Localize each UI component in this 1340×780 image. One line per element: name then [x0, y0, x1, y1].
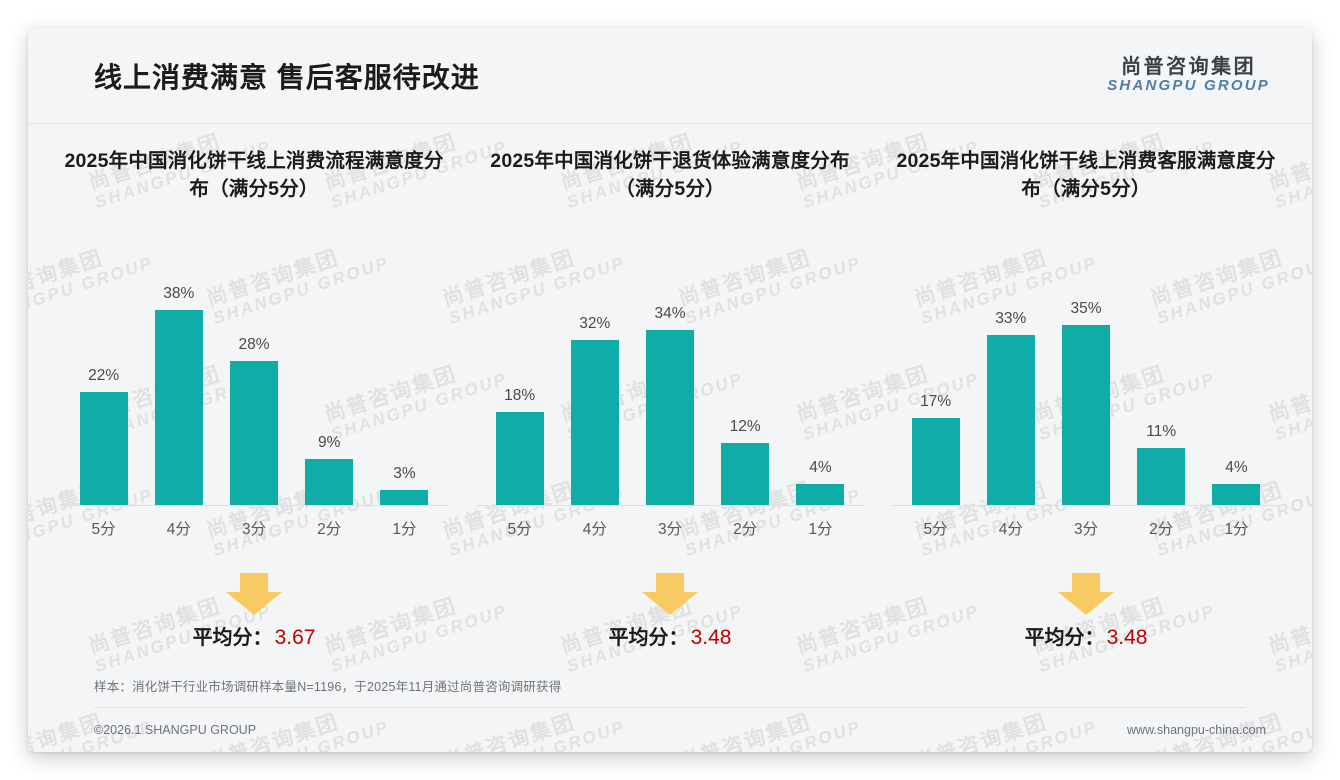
x-axis-labels: 5分4分3分2分1分: [60, 517, 448, 539]
average-score-text: 平均分：3.48: [609, 621, 732, 650]
x-axis-tick-label: 5分: [482, 517, 557, 539]
bar[interactable]: [1137, 448, 1185, 505]
x-axis-tick-label: 3分: [1048, 517, 1123, 539]
bar-group: 32%: [557, 256, 632, 505]
bar-chart: 22%38%28%9%3%: [60, 256, 448, 506]
bar[interactable]: [80, 392, 128, 505]
average-score-value: 3.48: [691, 626, 732, 649]
average-score-block: 平均分：3.48: [892, 573, 1280, 650]
copyright-text: ©2026.1 SHANGPU GROUP: [94, 723, 256, 737]
bar-group: 35%: [1048, 256, 1123, 505]
bar-group: 18%: [482, 256, 557, 505]
bar[interactable]: [305, 459, 353, 505]
bar-group: 11%: [1124, 256, 1199, 505]
page-title: 线上消费满意 售后客服待改进: [94, 56, 480, 96]
x-axis-tick-label: 5分: [898, 517, 973, 539]
bar-group: 12%: [708, 256, 783, 505]
x-axis-tick-label: 1分: [783, 517, 858, 539]
average-score-label: 平均分：: [1025, 627, 1105, 649]
x-axis-labels: 5分4分3分2分1分: [476, 517, 864, 539]
down-arrow-icon: [226, 573, 282, 615]
logo-english-text: SHANGPU GROUP: [1107, 78, 1270, 95]
x-axis-tick-label: 4分: [141, 517, 216, 539]
bar[interactable]: [987, 335, 1035, 505]
average-score-block: 平均分：3.67: [60, 573, 448, 650]
average-score-label: 平均分：: [609, 627, 689, 649]
bar[interactable]: [912, 418, 960, 505]
bar-value-label: 17%: [920, 393, 951, 411]
bar[interactable]: [571, 340, 619, 505]
bar-group: 9%: [292, 256, 367, 505]
x-axis-tick-label: 1分: [1199, 517, 1274, 539]
average-score-text: 平均分：3.67: [193, 621, 316, 650]
arrow-shaft: [656, 573, 684, 593]
chart-panel-1: 2025年中国消化饼干线上消费流程满意度分布（满分5分）22%38%28%9%3…: [46, 148, 462, 676]
x-axis-tick-label: 2分: [708, 517, 783, 539]
average-score-value: 3.67: [275, 626, 316, 649]
chart-title: 2025年中国消化饼干退货体验满意度分布（满分5分）: [476, 148, 864, 210]
down-arrow-icon: [1058, 573, 1114, 615]
slide-footer: ©2026.1 SHANGPU GROUP www.shangpu-china.…: [28, 708, 1312, 752]
bar[interactable]: [646, 330, 694, 505]
bar-group: 28%: [216, 256, 291, 505]
arrow-shaft: [240, 573, 268, 593]
bar-group: 33%: [973, 256, 1048, 505]
bar[interactable]: [1062, 325, 1110, 505]
x-axis-tick-label: 2分: [292, 517, 367, 539]
bar-group: 17%: [898, 256, 973, 505]
bar-chart: 17%33%35%11%4%: [892, 256, 1280, 506]
bar-value-label: 22%: [88, 367, 119, 385]
chart-panel-2: 2025年中国消化饼干退货体验满意度分布（满分5分）18%32%34%12%4%…: [462, 148, 878, 676]
bar-value-label: 35%: [1070, 300, 1101, 318]
x-axis-tick-label: 3分: [632, 517, 707, 539]
x-axis-tick-label: 5分: [66, 517, 141, 539]
chart-panel-3: 2025年中国消化饼干线上消费客服满意度分布（满分5分）17%33%35%11%…: [878, 148, 1294, 676]
brand-logo: 尚普咨询集团 SHANGPU GROUP: [1107, 56, 1270, 95]
slide-card: 尚普咨询集团SHANGPU GROUP尚普咨询集团SHANGPU GROUP尚普…: [28, 28, 1312, 752]
bar[interactable]: [796, 484, 844, 505]
bar-value-label: 9%: [318, 434, 340, 452]
bar-value-label: 3%: [393, 465, 415, 483]
bar-group: 38%: [141, 256, 216, 505]
chart-title: 2025年中国消化饼干线上消费客服满意度分布（满分5分）: [892, 148, 1280, 210]
bar-group: 34%: [632, 256, 707, 505]
logo-chinese-text: 尚普咨询集团: [1121, 56, 1256, 78]
average-score-label: 平均分：: [193, 627, 273, 649]
footnote-container: 样本：消化饼干行业市场调研样本量N=1196，于2025年11月通过尚普咨询调研…: [28, 676, 1312, 708]
bar[interactable]: [496, 412, 544, 505]
x-axis-tick-label: 3分: [216, 517, 291, 539]
bar-value-label: 28%: [238, 336, 269, 354]
bar[interactable]: [721, 443, 769, 505]
x-axis-tick-label: 4分: [973, 517, 1048, 539]
bar-value-label: 38%: [163, 285, 194, 303]
x-axis-tick-label: 1分: [367, 517, 442, 539]
arrow-head: [642, 592, 698, 615]
chart-title: 2025年中国消化饼干线上消费流程满意度分布（满分5分）: [60, 148, 448, 210]
x-axis-labels: 5分4分3分2分1分: [892, 517, 1280, 539]
bar-value-label: 18%: [504, 387, 535, 405]
bar-group: 4%: [1199, 256, 1274, 505]
bar[interactable]: [230, 361, 278, 505]
bar-chart: 18%32%34%12%4%: [476, 256, 864, 506]
bar-value-label: 32%: [579, 315, 610, 333]
average-score-value: 3.48: [1107, 626, 1148, 649]
bar-group: 3%: [367, 256, 442, 505]
bar[interactable]: [1212, 484, 1260, 505]
slide-header: 线上消费满意 售后客服待改进 尚普咨询集团 SHANGPU GROUP: [28, 28, 1312, 124]
website-link[interactable]: www.shangpu-china.com: [1127, 723, 1266, 737]
bar[interactable]: [155, 310, 203, 505]
bar-group: 4%: [783, 256, 858, 505]
charts-row: 2025年中国消化饼干线上消费流程满意度分布（满分5分）22%38%28%9%3…: [28, 124, 1312, 676]
bar-value-label: 12%: [730, 418, 761, 436]
bar-group: 22%: [66, 256, 141, 505]
arrow-head: [1058, 592, 1114, 615]
x-axis-tick-label: 4分: [557, 517, 632, 539]
bar-value-label: 11%: [1146, 423, 1176, 441]
average-score-block: 平均分：3.48: [476, 573, 864, 650]
arrow-head: [226, 592, 282, 615]
bar-value-label: 33%: [995, 310, 1026, 328]
bar-value-label: 4%: [809, 459, 831, 477]
arrow-shaft: [1072, 573, 1100, 593]
down-arrow-icon: [642, 573, 698, 615]
bar[interactable]: [380, 490, 428, 505]
bar-value-label: 4%: [1225, 459, 1247, 477]
x-axis-tick-label: 2分: [1124, 517, 1199, 539]
average-score-text: 平均分：3.48: [1025, 621, 1148, 650]
bar-value-label: 34%: [654, 305, 685, 323]
sample-footnote: 样本：消化饼干行业市场调研样本量N=1196，于2025年11月通过尚普咨询调研…: [94, 676, 1246, 708]
